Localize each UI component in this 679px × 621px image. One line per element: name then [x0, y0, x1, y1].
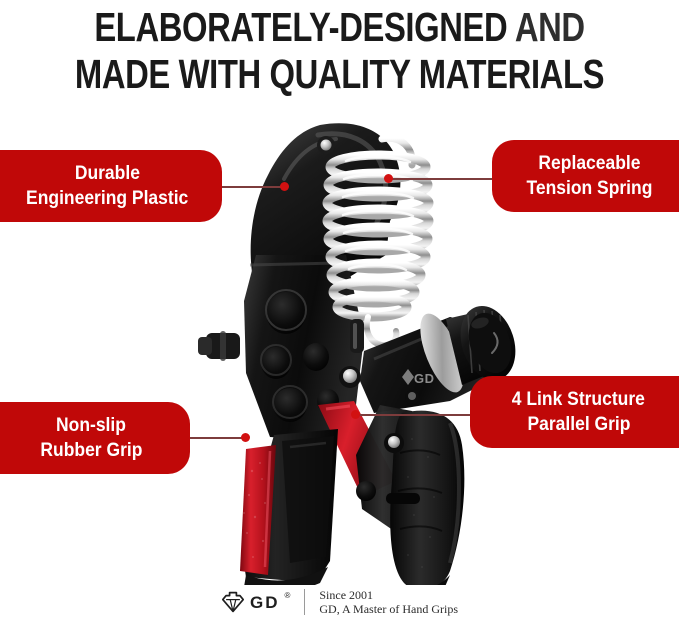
title-line-1-tail: AND: [515, 4, 585, 50]
footer-tagline-line-1: Since 2001: [319, 588, 458, 602]
footer-tagline: Since 2001 GD, A Master of Hand Grips: [319, 588, 458, 616]
product-side-bolt: [198, 331, 240, 361]
callout-rubber-line-2: Rubber Grip: [40, 438, 142, 463]
connector-line-spring: [388, 178, 492, 180]
title-line-2: MADE WITH QUALITY MATERIALS: [68, 51, 611, 98]
callout-spring-line-2: Tension Spring: [527, 176, 653, 201]
callout-durable-line-1: Durable: [74, 161, 139, 186]
svg-text:GD: GD: [414, 371, 435, 386]
product-right-handle: [356, 405, 464, 585]
title-line-1-main: ELABORATELY-DESIGNED: [94, 4, 507, 50]
callout-durable-engineering-plastic: Durable Engineering Plastic: [0, 150, 222, 222]
product-infographic: ELABORATELY-DESIGNED AND MADE WITH QUALI…: [0, 0, 679, 621]
registered-trademark-mark: ®: [284, 592, 290, 600]
callout-spring-line-1: Replaceable: [538, 151, 640, 176]
connector-line-link: [355, 414, 470, 416]
gem-diamond-icon: [221, 591, 245, 613]
connector-line-rubber: [190, 437, 246, 439]
brand-lockup: GD ®: [221, 591, 290, 613]
brand-wordmark: GD: [250, 594, 280, 611]
callout-rubber-line-1: Non-slip: [56, 413, 126, 438]
product-body-logo: GD: [402, 369, 435, 386]
product-center-rivet: [339, 366, 361, 388]
callout-link-line-1: 4 Link Structure: [512, 387, 645, 412]
callout-link-line-2: Parallel Grip: [527, 412, 630, 437]
callout-non-slip-rubber-grip: Non-slip Rubber Grip: [0, 402, 190, 474]
connector-dot-rubber: [241, 433, 250, 442]
title-line-1: ELABORATELY-DESIGNED AND: [68, 4, 611, 51]
callout-durable-line-2: Engineering Plastic: [26, 186, 188, 211]
footer-tagline-line-2: GD, A Master of Hand Grips: [319, 602, 458, 616]
footer-divider: [304, 589, 305, 615]
callout-4-link-structure-parallel-grip: 4 Link Structure Parallel Grip: [470, 376, 679, 448]
footer-brand-bar: GD ® Since 2001 GD, A Master of Hand Gri…: [0, 588, 679, 616]
connector-line-durable: [222, 186, 284, 188]
callout-replaceable-tension-spring: Replaceable Tension Spring: [492, 140, 679, 212]
product-left-handle: [240, 429, 338, 585]
connector-dot-spring: [384, 174, 393, 183]
connector-dot-durable: [280, 182, 289, 191]
page-title: ELABORATELY-DESIGNED AND MADE WITH QUALI…: [0, 4, 679, 98]
connector-dot-link: [351, 410, 360, 419]
